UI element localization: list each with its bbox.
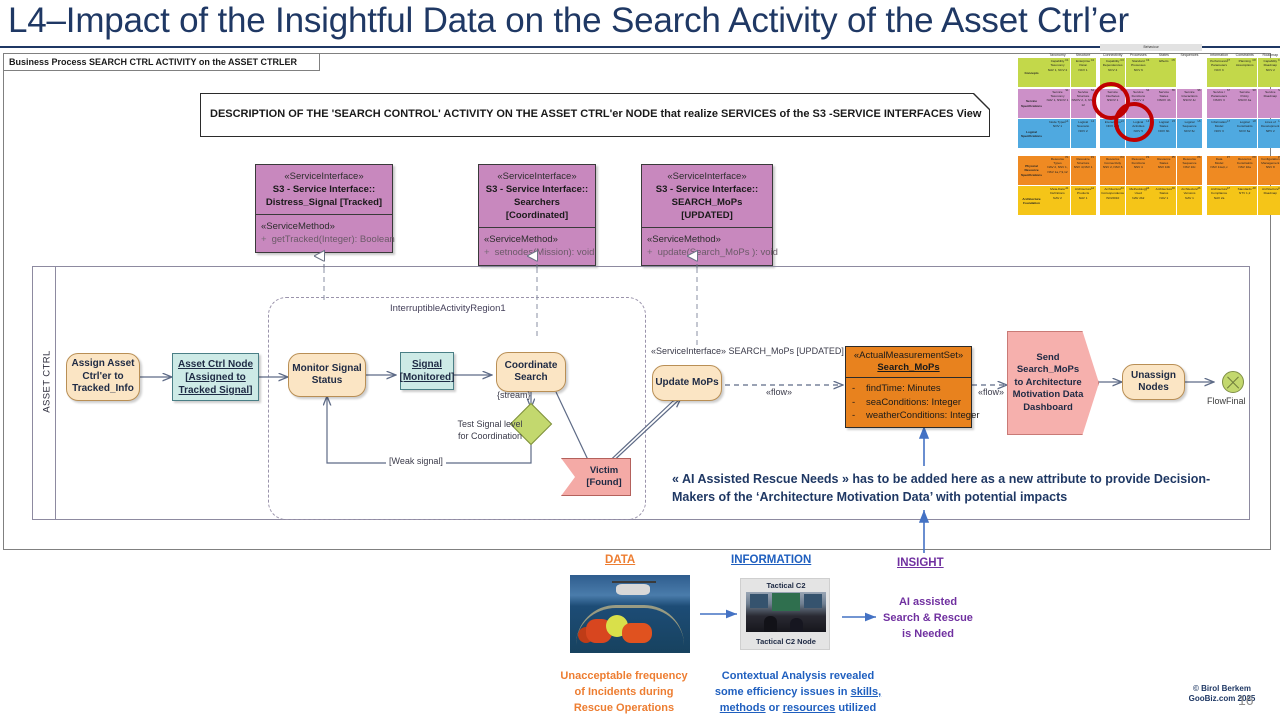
matrix-cell-A8[interactable]: A8StandardsNTV 1,2 <box>1232 186 1257 215</box>
qualified-name-line2: Distress_Signal [Tracked] <box>260 196 388 209</box>
screen-panel <box>772 593 800 611</box>
dik-heading-data: DATA <box>605 554 635 566</box>
matrix-cell-L2[interactable]: L2LogicalScenarioNOV 2 <box>1071 119 1096 148</box>
insight-caption-line3: is Needed <box>902 628 954 640</box>
test-signal-line1: Test Signal level <box>457 419 522 429</box>
matrix-cell-P7[interactable]: P7DataModelNSV 11a,b,c <box>1207 156 1232 185</box>
action-label: Coordinate Search <box>499 360 563 385</box>
copyright-line1: © Birol Berkem <box>1172 684 1272 694</box>
send-signal-search-mops-dashboard[interactable]: Send Search_MoPs to Architecture Motivat… <box>1007 331 1099 435</box>
edge-label-test-signal: Test Signal level for Coordination <box>450 418 530 442</box>
attribute-row: -weatherConditions: Integer <box>852 409 968 423</box>
qualified-name-line1: S3 - Service Interface:: <box>260 183 388 196</box>
service-interface-distress-signal[interactable]: «ServiceInterface» S3 - Service Interfac… <box>255 164 393 253</box>
action-unassign-nodes[interactable]: Unassign Nodes <box>1122 364 1185 400</box>
matrix-cell-L9[interactable]: L9Lines ofDevelopmentNPV 2 <box>1258 119 1280 148</box>
visibility-marker: + <box>484 247 490 258</box>
data-caption-line1: Unacceptable frequency <box>560 670 687 682</box>
highlight-ring-logical-activities <box>1114 102 1154 142</box>
matrix-cell-P8[interactable]: P8ResourceConstraintsNSV 10a <box>1232 156 1257 185</box>
edge-label-stream: {stream} <box>497 390 531 400</box>
qualified-name-line1: S3 - Service Interface:: <box>483 183 591 196</box>
method-text: update(Search_MoPs ): void <box>658 247 778 258</box>
class-attributes: -findTime: Minutes -seaConditions: Integ… <box>846 378 971 427</box>
info-keyword-skills: skills, <box>851 686 882 698</box>
operator-silhouette <box>764 616 777 632</box>
matrix-cell-P9[interactable]: P9ConfigurationManagementNSV 8 <box>1258 156 1280 185</box>
edge-label-flow-2: «flow» <box>978 387 1004 397</box>
info-caption-line1: Contextual Analysis revealed <box>722 670 874 682</box>
flow-final-label: FlowFinal <box>1207 396 1246 406</box>
matrix-row-header-physical-resource-specifications: Physical Resource Specifications <box>1018 156 1045 185</box>
signal-state: [Found] <box>586 477 621 489</box>
copyright-line2: GooBiz.com 2025 <box>1172 694 1272 704</box>
attribute-row: -findTime: Minutes <box>852 382 968 396</box>
note-fold-corner <box>974 93 990 109</box>
service-interface-header: «ServiceInterface» S3 - Service Interfac… <box>642 165 772 228</box>
swimlane-header: ASSET CTRL <box>32 266 56 520</box>
matrix-cell-P4[interactable]: P4ResourceFunctionsNSV 4 <box>1126 156 1151 185</box>
class-header: «ActualMeasurementSet» Search_MoPs <box>846 347 971 378</box>
service-interface-operations: «ServiceMethod» +getTracked(Integer): Bo… <box>256 215 392 252</box>
method-signature: +getTracked(Integer): Boolean <box>261 233 388 246</box>
info-caption-line2a: some efficiency issues in <box>715 686 851 698</box>
object-node-name: Signal <box>412 358 442 371</box>
insight-caption-line2: Search & Rescue <box>883 612 973 624</box>
service-interface-operations: «ServiceMethod» +setnodes(Mission): void <box>479 228 595 265</box>
method-stereotype: «ServiceMethod» <box>484 233 591 246</box>
matrix-cell-A7[interactable]: A7ArchitectureComplianceNAV 2a <box>1207 186 1232 215</box>
action-update-mops[interactable]: Update MoPs <box>652 365 722 401</box>
data-caption-line3: Rescue Operations <box>574 702 674 714</box>
info-keyword-resources: resources <box>783 702 836 714</box>
matrix-cell-A3[interactable]: A3ArchitectureCorrespondenceISO/2010 <box>1100 186 1125 215</box>
operator-silhouette <box>790 618 803 632</box>
stereotype-label: «ServiceInterface» <box>646 170 768 183</box>
object-node-asset-ctrl-node[interactable]: Asset Ctrl Node [Assigned to Tracked Sig… <box>172 353 259 401</box>
matrix-cell-L7[interactable]: L7InformationModelNOV 3 <box>1207 119 1232 148</box>
matrix-cell-C1[interactable]: C1CapabilityTaxonomyNAV 1, NCV 2 <box>1045 58 1070 87</box>
matrix-cell-A6[interactable]: A6ArchitectureVersionsNAV 1 <box>1177 186 1202 215</box>
flow-final-node[interactable] <box>1222 371 1244 393</box>
class-actual-measurement-set[interactable]: «ActualMeasurementSet» Search_MoPs -find… <box>845 346 972 428</box>
edge-label-service-interface-search-mops: «ServiceInterface» SEARCH_MoPs [UPDATED] <box>651 346 844 356</box>
diagram-frame-tab: Business Process SEARCH CTRL ACTIVITY on… <box>3 53 320 71</box>
attribute-text: weatherConditions: Integer <box>866 410 980 421</box>
matrix-cell-C7[interactable]: C7PerformanceParametersNCV 3 <box>1207 58 1232 87</box>
dik-caption-insight: AI assisted Search & Rescue is Needed <box>870 594 986 642</box>
matrix-row-header-logical-specifications: Logical Specifications <box>1018 119 1045 148</box>
visibility-marker: - <box>852 409 866 423</box>
object-node-state: [Monitored] <box>400 371 455 384</box>
visibility-marker: - <box>852 396 866 410</box>
matrix-cell-L6[interactable]: L6LogicalSequenceNOV 6c <box>1177 119 1202 148</box>
object-node-name: Asset Ctrl Node <box>178 358 253 371</box>
matrix-band-behaviour: Behaviour <box>1100 44 1202 51</box>
matrix-cell-C2[interactable]: C2EnterpriseVisionNCV 1 <box>1071 58 1096 87</box>
helicopter-shape <box>616 584 650 595</box>
send-signal-label: Send Search_MoPs to Architecture Motivat… <box>1012 352 1084 415</box>
annotation-callout: « AI Assisted Rescue Needs » has to be a… <box>672 470 1272 506</box>
class-name: Search_MoPs <box>848 362 969 373</box>
matrix-cell-S6[interactable]: S6ServiceInteractionsNSOV 4c <box>1177 89 1202 118</box>
info-caption-conj: or <box>766 702 783 714</box>
signal-name: Victim <box>590 465 618 477</box>
class-stereotype: «ActualMeasurementSet» <box>854 350 963 361</box>
method-stereotype: «ServiceMethod» <box>261 220 388 233</box>
service-interface-header: «ServiceInterface» S3 - Service Interfac… <box>256 165 392 215</box>
attribute-row: -seaConditions: Integer <box>852 396 968 410</box>
matrix-cell-P1[interactable]: P1ResourceTypesNAV 2, NSV 1, NSV 1a,7,9,… <box>1045 156 1070 185</box>
matrix-cell-S5[interactable]: S5ServiceStatesNSOV 4b <box>1151 89 1176 118</box>
matrix-cell-L8[interactable]: L8LogicalConstraintsNOV 6a <box>1232 119 1257 148</box>
matrix-cell-P6[interactable]: P6ResourceSequenceNSV 10c <box>1177 156 1202 185</box>
matrix-cell-A1[interactable]: A1Meta-DataDefinitionsNAV 2 <box>1045 186 1070 215</box>
matrix-col-header-sequences: Sequences <box>1177 52 1202 58</box>
qualified-name-line1: S3 - Service Interface:: <box>646 183 768 196</box>
page-title: L4–Impact of the Insightful Data on the … <box>8 0 1278 44</box>
object-node-state-line1: [Assigned to <box>185 371 246 384</box>
matrix-cell-P2[interactable]: P2ResourceStructureNSV 4,NSV 1 <box>1071 156 1096 185</box>
object-node-state-line2: Tracked Signal] <box>179 384 253 397</box>
attribute-text: findTime: Minutes <box>866 383 941 394</box>
swimlane-label: ASSET CTRL <box>42 292 53 472</box>
visibility-marker: + <box>647 247 653 258</box>
method-stereotype: «ServiceMethod» <box>647 233 768 246</box>
action-monitor-signal-status[interactable]: Monitor Signal Status <box>288 353 366 397</box>
data-caption-line2: of Incidents during <box>575 686 674 698</box>
matrix-cell-A2[interactable]: A2ArchitectureProductsNAV 1 <box>1071 186 1096 215</box>
action-label: Unassign Nodes <box>1125 370 1182 395</box>
matrix-cell-C9[interactable]: C9CapabilityRoadmapNCV 2 <box>1258 58 1280 87</box>
dik-caption-information: Contextual Analysis revealed some effici… <box>700 668 896 716</box>
architecture-framework-matrix[interactable]: Behaviour TaxonomyStructureConnectivityP… <box>1018 44 1276 226</box>
visibility-marker: - <box>852 382 866 396</box>
interruptible-region-label: InterruptibleActivityRegion1 <box>390 303 506 314</box>
matrix-cell-L5[interactable]: L5LogicalStatesNOV 6b <box>1151 119 1176 148</box>
matrix-row-header-concepts: Concepts <box>1018 58 1045 87</box>
callout-line1: « AI Assisted Rescue Needs » has to be a… <box>672 470 1272 488</box>
attribute-text: seaConditions: Integer <box>866 397 961 408</box>
service-interface-header: «ServiceInterface» S3 - Service Interfac… <box>479 165 595 228</box>
action-label: Update MoPs <box>655 377 718 390</box>
action-assign-asset-ctrler[interactable]: Assign Asset Ctrl'er to Tracked_Info <box>66 353 140 401</box>
matrix-cell-S7[interactable]: S7Service /ParametersNSOV 3 <box>1207 89 1232 118</box>
method-signature: +setnodes(Mission): void <box>484 246 591 259</box>
matrix-row-header-architecture-foundation: Architecture Foundation <box>1018 186 1045 215</box>
service-interface-search-mops[interactable]: «ServiceInterface» S3 - Service Interfac… <box>641 164 773 266</box>
edge-label-weak-signal: [Weak signal] <box>386 456 446 466</box>
matrix-cell-S8[interactable]: S8ServicePolicyNSOV 4a <box>1232 89 1257 118</box>
matrix-cell-C8[interactable]: C8PlanningAssumptions <box>1232 58 1257 87</box>
method-text: getTracked(Integer): Boolean <box>272 234 395 245</box>
insight-caption-line1: AI assisted <box>899 596 957 608</box>
matrix-cell-P5[interactable]: P5ResourceStatesNSV 10b <box>1151 156 1176 185</box>
action-label: Monitor Signal Status <box>291 363 363 388</box>
visibility-marker: + <box>261 234 267 245</box>
method-text: setnodes(Mission): void <box>495 247 595 258</box>
matrix-cell-C5[interactable]: C5Effects <box>1151 58 1176 87</box>
survivor-shape <box>622 623 652 643</box>
tactical-c2-title: Tactical C2 <box>741 581 831 590</box>
test-signal-line2: for Coordination <box>458 431 522 441</box>
tactical-c2-image <box>746 592 826 632</box>
photo-tactical-c2-node: Tactical C2 Tactical C2 Node <box>740 578 830 650</box>
service-interface-searchers[interactable]: «ServiceInterface» S3 - Service Interfac… <box>478 164 596 266</box>
action-label: Assign Asset Ctrl'er to Tracked_Info <box>69 358 137 396</box>
matrix-cell-S1[interactable]: S1ServiceTaxonomyNAV 1, NSOV 1 <box>1045 89 1070 118</box>
action-coordinate-search[interactable]: Coordinate Search <box>496 352 566 392</box>
info-caption-line3d: utilized <box>835 702 876 714</box>
screen-panel <box>804 594 822 608</box>
matrix-cell-C4[interactable]: C4StandardProcessesNCV 6 <box>1126 58 1151 87</box>
screen-panel <box>750 594 768 608</box>
matrix-cell-P3[interactable]: P3ResourceConnectivityNSV 2, NSV 6 <box>1100 156 1125 185</box>
matrix-cell-A9[interactable]: A9ArchitectureRoadmap <box>1258 186 1280 215</box>
stereotype-label: «ServiceInterface» <box>483 170 591 183</box>
edge-label-flow-1: «flow» <box>766 387 792 397</box>
matrix-cell-A4[interactable]: A4MethodologyUsedNAV 2b2 <box>1126 186 1151 215</box>
description-note: DESCRIPTION OF THE 'SEARCH CONTROL' ACTI… <box>200 93 990 137</box>
tactical-c2-caption: Tactical C2 Node <box>741 637 831 646</box>
service-interface-operations: «ServiceMethod» +update(Search_MoPs ): v… <box>642 228 772 265</box>
matrix-cell-A5[interactable]: A5ArchitectureStatusNAV 1 <box>1151 186 1176 215</box>
copyright-notice: © Birol Berkem GooBiz.com 2025 <box>1172 684 1272 704</box>
matrix-row-header-service-specifications: Service Specifications <box>1018 89 1045 118</box>
qualified-name-line2: Searchers [Coordinated] <box>483 196 591 222</box>
dik-caption-data: Unacceptable frequency of Incidents duri… <box>528 668 720 716</box>
qualified-name-line2: SEARCH_MoPs [UPDATED] <box>646 196 768 222</box>
callout-line2: Makers of the ‘Architecture Motivation D… <box>672 488 1272 506</box>
method-signature: +update(Search_MoPs ): void <box>647 246 768 259</box>
matrix-cell-S9[interactable]: S9ServiceRoadmap <box>1258 89 1280 118</box>
matrix-cell-L1[interactable]: L1Node TypesNOV 1 <box>1045 119 1070 148</box>
info-keyword-methods: methods <box>720 702 766 714</box>
object-node-signal[interactable]: Signal [Monitored] <box>400 352 454 390</box>
swimlane-top-divider <box>32 266 1250 267</box>
dik-heading-information: INFORMATION <box>731 554 811 566</box>
photo-rescue-operation <box>570 575 690 653</box>
page-number: 16 <box>1238 692 1254 708</box>
dik-heading-insight: INSIGHT <box>897 557 944 569</box>
stereotype-label: «ServiceInterface» <box>260 170 388 183</box>
